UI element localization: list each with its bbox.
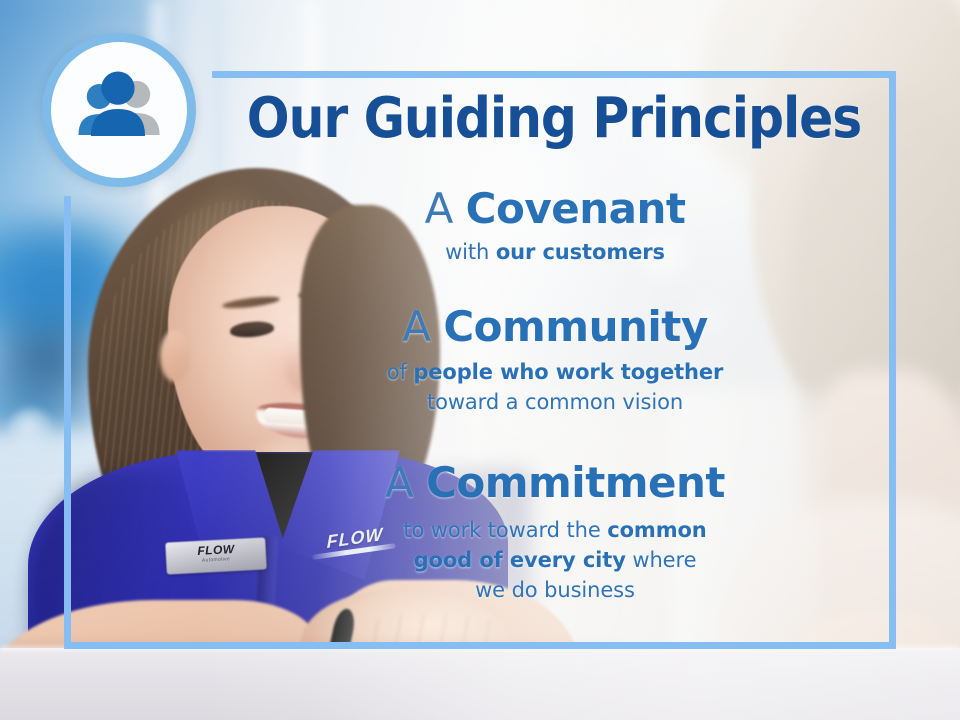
plain-text: toward a common vision: [427, 390, 683, 414]
principle-keyword: Covenant: [466, 184, 686, 233]
emphasis-text: our customers: [496, 240, 665, 264]
principle-heading: A Covenant: [230, 184, 880, 234]
emphasis-text: people who work together: [413, 360, 723, 384]
plain-text: with: [445, 240, 496, 264]
plain-text: to work toward the: [403, 518, 607, 542]
principle-detail-line: of people who work together: [230, 357, 880, 387]
principle-detail-line: with our customers: [230, 237, 880, 267]
emphasis-text: common: [607, 518, 706, 542]
emphasis-text: good of every city: [414, 548, 626, 572]
principle-keyword: Commitment: [426, 458, 725, 507]
principle-keyword: Community: [443, 302, 707, 351]
principle-article: A: [402, 302, 430, 351]
plain-text: of: [387, 360, 414, 384]
principle-heading: A Community: [230, 302, 880, 352]
principle-commitment: A Commitment to work toward the common g…: [230, 458, 880, 605]
principle-community: A Community of people who work together …: [230, 302, 880, 417]
desk-surface: [0, 648, 960, 720]
people-group-badge: [42, 33, 196, 187]
principle-detail: to work toward the common good of every …: [230, 515, 880, 605]
principle-detail: of people who work together toward a com…: [230, 357, 880, 417]
guiding-principles-graphic: FLOW Automotive FLOW: [0, 0, 960, 720]
principle-detail-line: toward a common vision: [230, 387, 880, 417]
principle-detail-line: we do business: [230, 575, 880, 605]
frame-bottom-border: [64, 642, 896, 649]
principle-detail-line: to work toward the common: [230, 515, 880, 545]
frame-right-border: [889, 71, 896, 649]
principle-detail-line: good of every city where: [230, 545, 880, 575]
people-group-icon: [67, 58, 171, 162]
plain-text: we do business: [475, 578, 635, 602]
principle-article: A: [425, 184, 453, 233]
principle-detail: with our customers: [230, 237, 880, 267]
frame-left-border: [64, 196, 71, 649]
employee-ear: [160, 330, 190, 382]
plain-text: where: [626, 548, 697, 572]
principle-article: A: [385, 458, 413, 507]
principle-heading: A Commitment: [230, 458, 880, 508]
page-title: Our Guiding Principles: [246, 88, 862, 150]
principle-covenant: A Covenant with our customers: [230, 184, 880, 267]
frame-top-border: [212, 71, 896, 78]
